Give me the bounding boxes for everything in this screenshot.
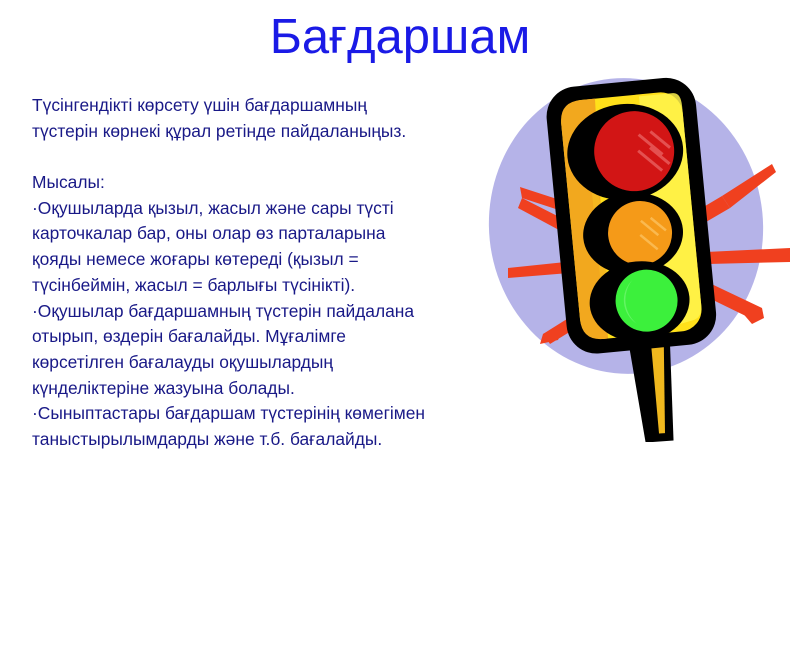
text-line: қояды немесе жоғары көтереді (қызыл = <box>32 247 482 273</box>
text-line: ·Сыныптастары бағдаршам түстерінің көмег… <box>32 401 482 427</box>
text-line: күнделіктеріне жазуына болады. <box>32 376 482 402</box>
text-line: түстерін көрнекі құрал ретінде пайдаланы… <box>32 119 482 145</box>
slide-body-text: Түсінгендікті көрсету үшін бағдаршамның … <box>32 93 482 453</box>
text-line: көрсетілген бағалауды оқушылардың <box>32 350 482 376</box>
text-line: ·Оқушылар бағдаршамның түстерін пайдалан… <box>32 299 482 325</box>
text-line: Мысалы: <box>32 170 482 196</box>
text-line: отырып, өздерін бағалайды. Мұғалімге <box>32 324 482 350</box>
traffic-light-image <box>500 72 800 442</box>
text-line: Түсінгендікті көрсету үшін бағдаршамның <box>32 93 482 119</box>
text-line: таныстырылымдарды және т.б. бағалайды. <box>32 427 482 453</box>
text-line: карточкалар бар, оны олар өз парталарына <box>32 221 482 247</box>
presentation-slide: Бағдаршам <box>0 0 800 657</box>
text-line: түсінбеймін, жасыл = барлығы түсінікті). <box>32 273 482 299</box>
page-title: Бағдаршам <box>0 8 800 66</box>
text-line: ·Оқушыларда қызыл, жасыл және сары түсті <box>32 196 482 222</box>
